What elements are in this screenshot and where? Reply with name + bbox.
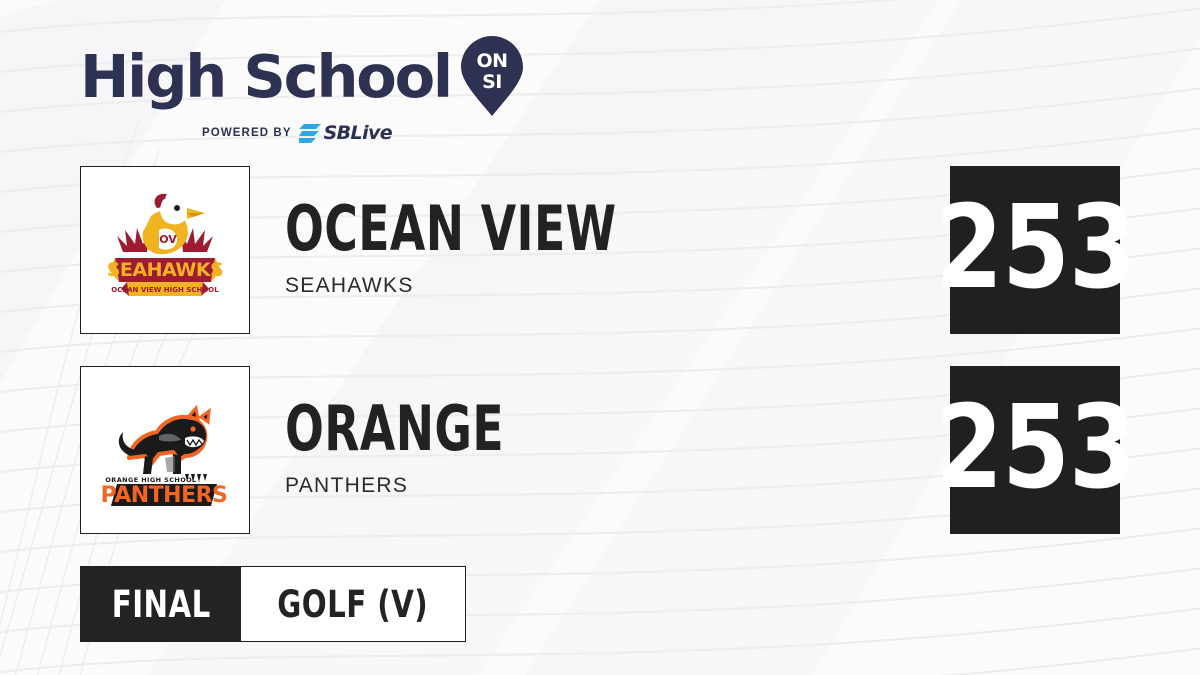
status-state-badge: FINAL [81,567,241,641]
powered-by-row: POWERED BY SBLive [202,122,523,144]
seahawks-logo-icon: OV SEAHAWKS OCEAN VIEW HIGH SCHOOL [101,186,229,314]
onsi-pin-icon: ON SI [461,36,523,116]
team-mascot: PANTHERS [285,474,552,498]
team-name: OCEAN VIEW [285,198,617,260]
logo-banner-text: PANTHERS [101,483,227,508]
wordmark-row: High School ON SI [80,36,523,118]
status-sport-badge: GOLF (V) [241,567,464,641]
score-box: 253 [950,366,1120,534]
logo-school-text: OCEAN VIEW HIGH SCHOOL [111,286,219,294]
brand-header: High School ON SI POWERED BY SBLive [80,36,523,144]
site-wordmark: High School [80,49,451,105]
status-sport-label: GOLF (V) [278,583,429,626]
sblive-wordmark: SBLive [324,122,392,144]
sblive-bolt-icon [299,124,321,143]
status-state-label: FINAL [112,583,211,626]
svg-text:OV: OV [159,233,177,246]
team-text-block: ORANGE PANTHERS [285,398,552,498]
team-text-block: OCEAN VIEW SEAHAWKS [285,198,689,298]
team-logo-box-ocean-view: OV SEAHAWKS OCEAN VIEW HIGH SCHOOL [80,166,250,334]
game-status-bar: FINAL GOLF (V) [80,566,466,642]
panthers-logo-icon: ORANGE HIGH SCHOOL PANTHERS [101,386,229,514]
score-box: 253 [950,166,1120,334]
team-mascot: SEAHAWKS [285,274,689,298]
team-logo-box-orange: ORANGE HIGH SCHOOL PANTHERS [80,366,250,534]
logo-banner-text: SEAHAWKS [107,259,224,281]
powered-by-label: POWERED BY [202,127,292,139]
team-name: ORANGE [285,398,504,460]
pin-line-2: SI [482,71,502,93]
score-value: 253 [935,391,1135,506]
score-value: 253 [935,191,1135,306]
sblive-logo: SBLive [299,122,392,144]
pin-line-1: ON [476,50,507,72]
